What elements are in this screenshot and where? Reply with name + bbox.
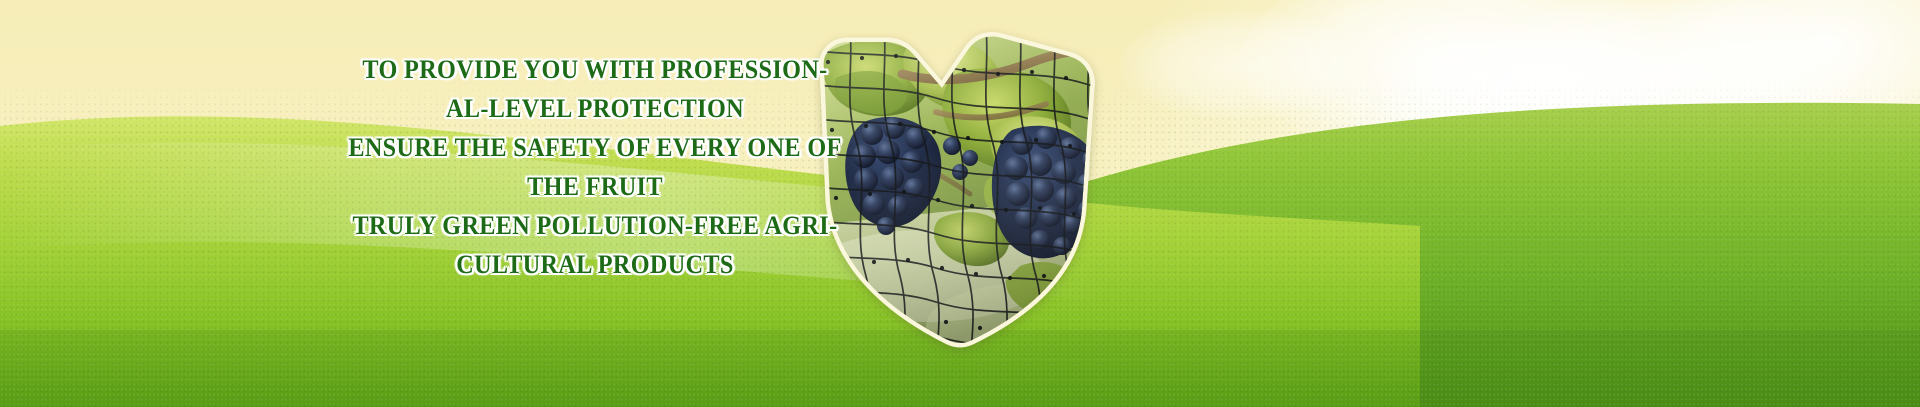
- hero-banner: TO PROVIDE YOU WITH PROFESSION- AL-LEVEL…: [0, 0, 1920, 407]
- headline-line-1: TO PROVIDE YOU WITH PROFESSION-: [42, 50, 1149, 89]
- headline-line-3: ENSURE THE SAFETY OF EVERY ONE OF: [42, 128, 1149, 167]
- headline-line-5: TRULY GREEN POLLUTION-FREE AGRI-: [42, 206, 1149, 245]
- headline-line-2: AL-LEVEL PROTECTION: [42, 89, 1149, 128]
- headline-line-6: CULTURAL PRODUCTS: [42, 245, 1149, 284]
- headline-line-4: THE FRUIT: [42, 167, 1149, 206]
- headline-block: TO PROVIDE YOU WITH PROFESSION- AL-LEVEL…: [0, 50, 1190, 284]
